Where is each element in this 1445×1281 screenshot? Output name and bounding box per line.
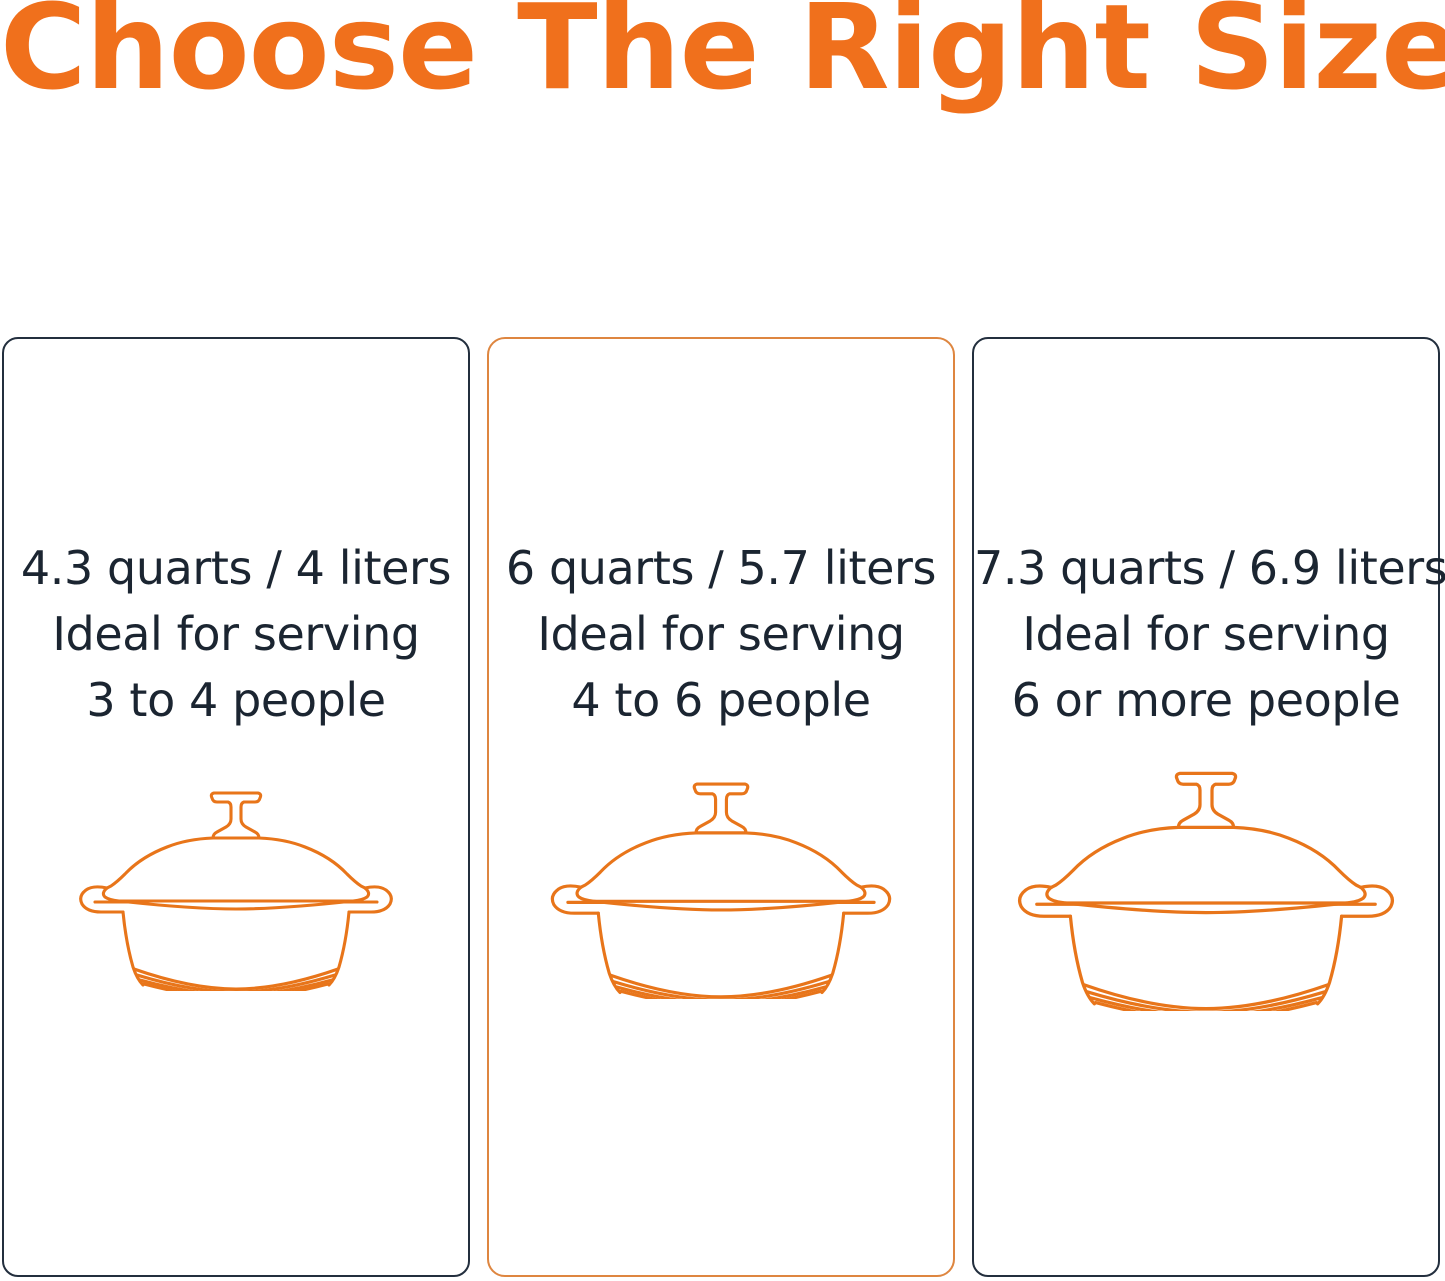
serving-label: Ideal for serving: [974, 601, 1438, 667]
size-card-medium-text: 6 quarts / 5.7 liters Ideal for serving …: [489, 535, 953, 733]
size-card-small-text: 4.3 quarts / 4 liters Ideal for serving …: [4, 535, 468, 733]
size-card-large-text: 7.3 quarts / 6.9 liters Ideal for servin…: [974, 535, 1438, 733]
size-card-medium[interactable]: 6 quarts / 5.7 liters Ideal for serving …: [487, 337, 955, 1277]
page-title: Choose The Right Size: [0, 0, 1445, 112]
size-card-small[interactable]: 4.3 quarts / 4 liters Ideal for serving …: [2, 337, 470, 1277]
dutch-oven-pot-icon: [71, 781, 401, 991]
serving-people-label: 6 or more people: [974, 667, 1438, 733]
serving-label: Ideal for serving: [4, 601, 468, 667]
serving-label: Ideal for serving: [489, 601, 953, 667]
pot-illustration-wrap-medium: [489, 771, 953, 999]
serving-people-label: 4 to 6 people: [489, 667, 953, 733]
serving-people-label: 3 to 4 people: [4, 667, 468, 733]
capacity-label: 4.3 quarts / 4 liters: [4, 535, 468, 601]
capacity-label: 7.3 quarts / 6.9 liters: [974, 535, 1438, 601]
dutch-oven-pot-icon: [1002, 759, 1410, 1011]
pot-illustration-wrap-small: [4, 781, 468, 991]
dutch-oven-pot-icon: [536, 771, 906, 999]
size-card-large[interactable]: 7.3 quarts / 6.9 liters Ideal for servin…: [972, 337, 1440, 1277]
capacity-label: 6 quarts / 5.7 liters: [489, 535, 953, 601]
size-options-row: 4.3 quarts / 4 liters Ideal for serving …: [2, 337, 1440, 1277]
pot-illustration-wrap-large: [974, 759, 1438, 1011]
